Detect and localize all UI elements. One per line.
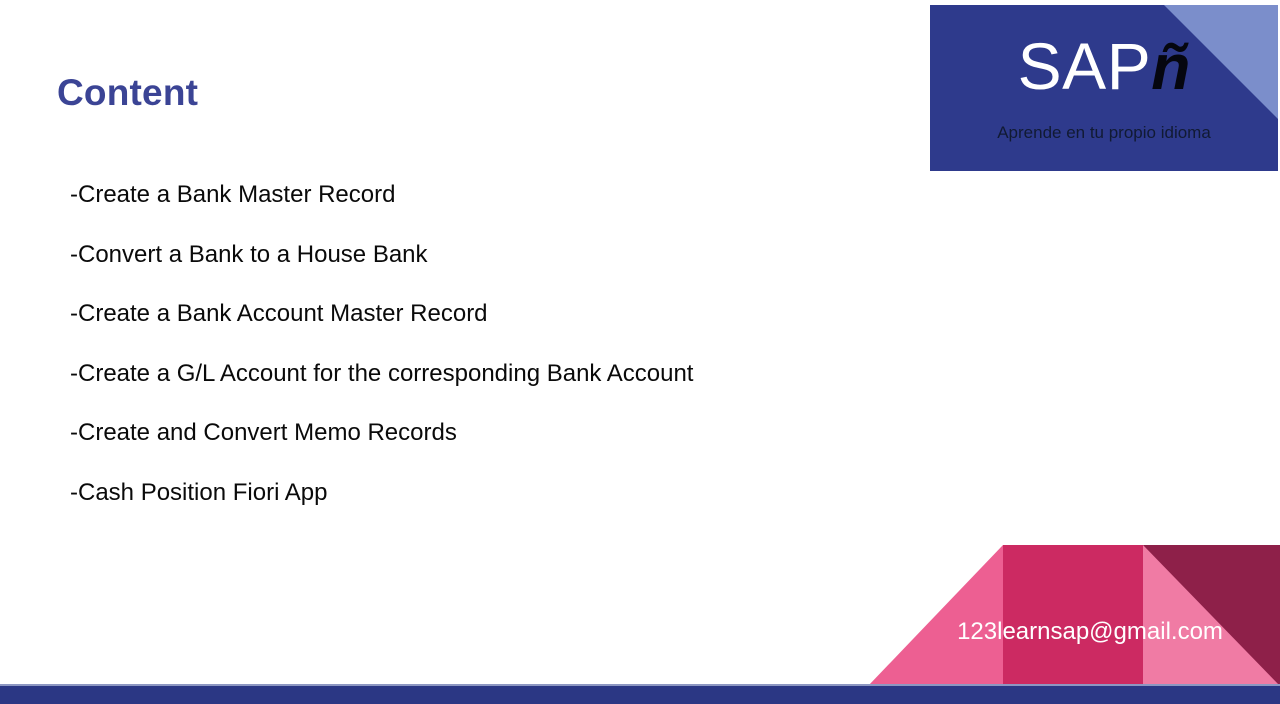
logo-word-sap: SAP [1018, 29, 1152, 103]
footer-decoration [860, 538, 1280, 686]
footer-email-text: 123learnsap@gmail.com [940, 618, 1240, 646]
slide-canvas: Content -Create a Bank Master Record -Co… [0, 0, 1280, 704]
deco-shape-magenta-block [1003, 545, 1143, 686]
list-item: -Create a Bank Master Record [70, 183, 870, 243]
footer-decoration-shapes [860, 538, 1280, 686]
list-item: -Create a Bank Account Master Record [70, 302, 870, 362]
logo-word-enye: ñ [1151, 31, 1190, 103]
sapn-logo: SAPñ Aprende en tu propio idioma [930, 5, 1278, 171]
list-item: -Create and Convert Memo Records [70, 421, 870, 481]
deco-shape-pink-wedge [868, 545, 1003, 686]
list-item: -Convert a Bank to a House Bank [70, 243, 870, 303]
bottom-bar [0, 686, 1280, 704]
logo-tagline: Aprende en tu propio idioma [930, 123, 1278, 143]
page-title: Content [57, 72, 198, 114]
logo-wordmark: SAPñ [930, 33, 1278, 99]
list-item: -Cash Position Fiori App [70, 481, 870, 541]
content-list: -Create a Bank Master Record -Convert a … [70, 183, 870, 541]
list-item: -Create a G/L Account for the correspond… [70, 362, 870, 422]
